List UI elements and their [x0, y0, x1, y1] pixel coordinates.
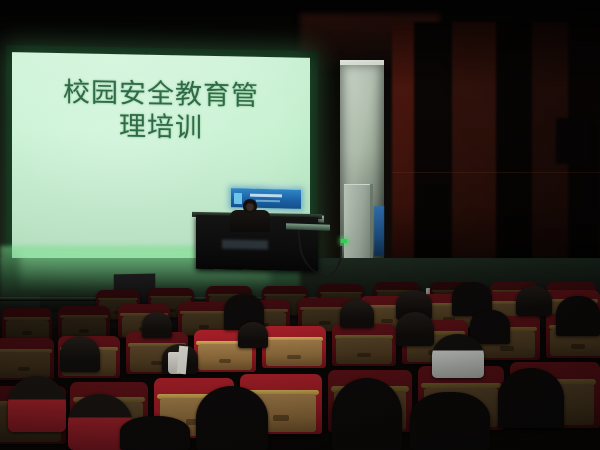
seat-emblem	[273, 415, 290, 421]
audience-member	[396, 312, 434, 346]
audience-member	[516, 286, 552, 316]
seat-emblem	[500, 346, 514, 350]
seat-back-panel	[0, 352, 50, 378]
auditorium-seat	[0, 338, 54, 380]
auditorium-seat	[332, 324, 396, 366]
wall-seam	[392, 172, 600, 173]
seat-emblem	[199, 325, 210, 328]
auditorium-photo: 校园安全教育管 理培训	[0, 0, 600, 450]
seat-emblem	[18, 367, 30, 371]
seat-emblem	[571, 344, 584, 348]
cabinet-edge	[370, 184, 373, 258]
blue-bin	[374, 206, 384, 256]
wall-frame	[556, 118, 590, 164]
audience-member	[556, 296, 600, 336]
audience-member	[60, 336, 100, 372]
audience-seating	[0, 282, 600, 450]
seat-back-panel	[336, 338, 391, 364]
audience-member	[142, 312, 172, 338]
audience-member	[238, 322, 268, 348]
audience-member-white-jacket	[432, 334, 484, 378]
seat-emblem	[357, 353, 370, 357]
audience-member	[332, 378, 402, 450]
audience-member	[470, 310, 510, 344]
seat-emblem	[381, 319, 392, 322]
audience-member	[196, 386, 268, 450]
seat-emblem	[79, 329, 90, 332]
seat-emblem	[219, 359, 232, 363]
seat-emblem	[22, 331, 32, 334]
audience-member	[410, 392, 490, 450]
auditorium-seat	[58, 306, 110, 340]
audience-member	[120, 416, 190, 450]
laptop-ui-sidebar	[234, 193, 242, 204]
audience-member	[498, 368, 564, 428]
seated-presenter-face	[246, 203, 254, 211]
seated-presenter-body	[230, 210, 270, 232]
seat-emblem	[287, 355, 300, 359]
audience-member-red-jacket	[8, 376, 66, 432]
seat-back-panel	[266, 340, 321, 366]
seat-emblem	[319, 321, 330, 324]
green-led-indicator	[341, 239, 347, 243]
auditorium-seat	[262, 326, 326, 368]
podium-logo	[222, 240, 268, 250]
seat-back-panel	[198, 344, 251, 370]
floor-cabinet	[344, 184, 372, 259]
slide-title: 校园安全教育管 理培训	[18, 75, 304, 146]
audience-member	[340, 300, 374, 328]
auditorium-seat	[2, 308, 52, 342]
